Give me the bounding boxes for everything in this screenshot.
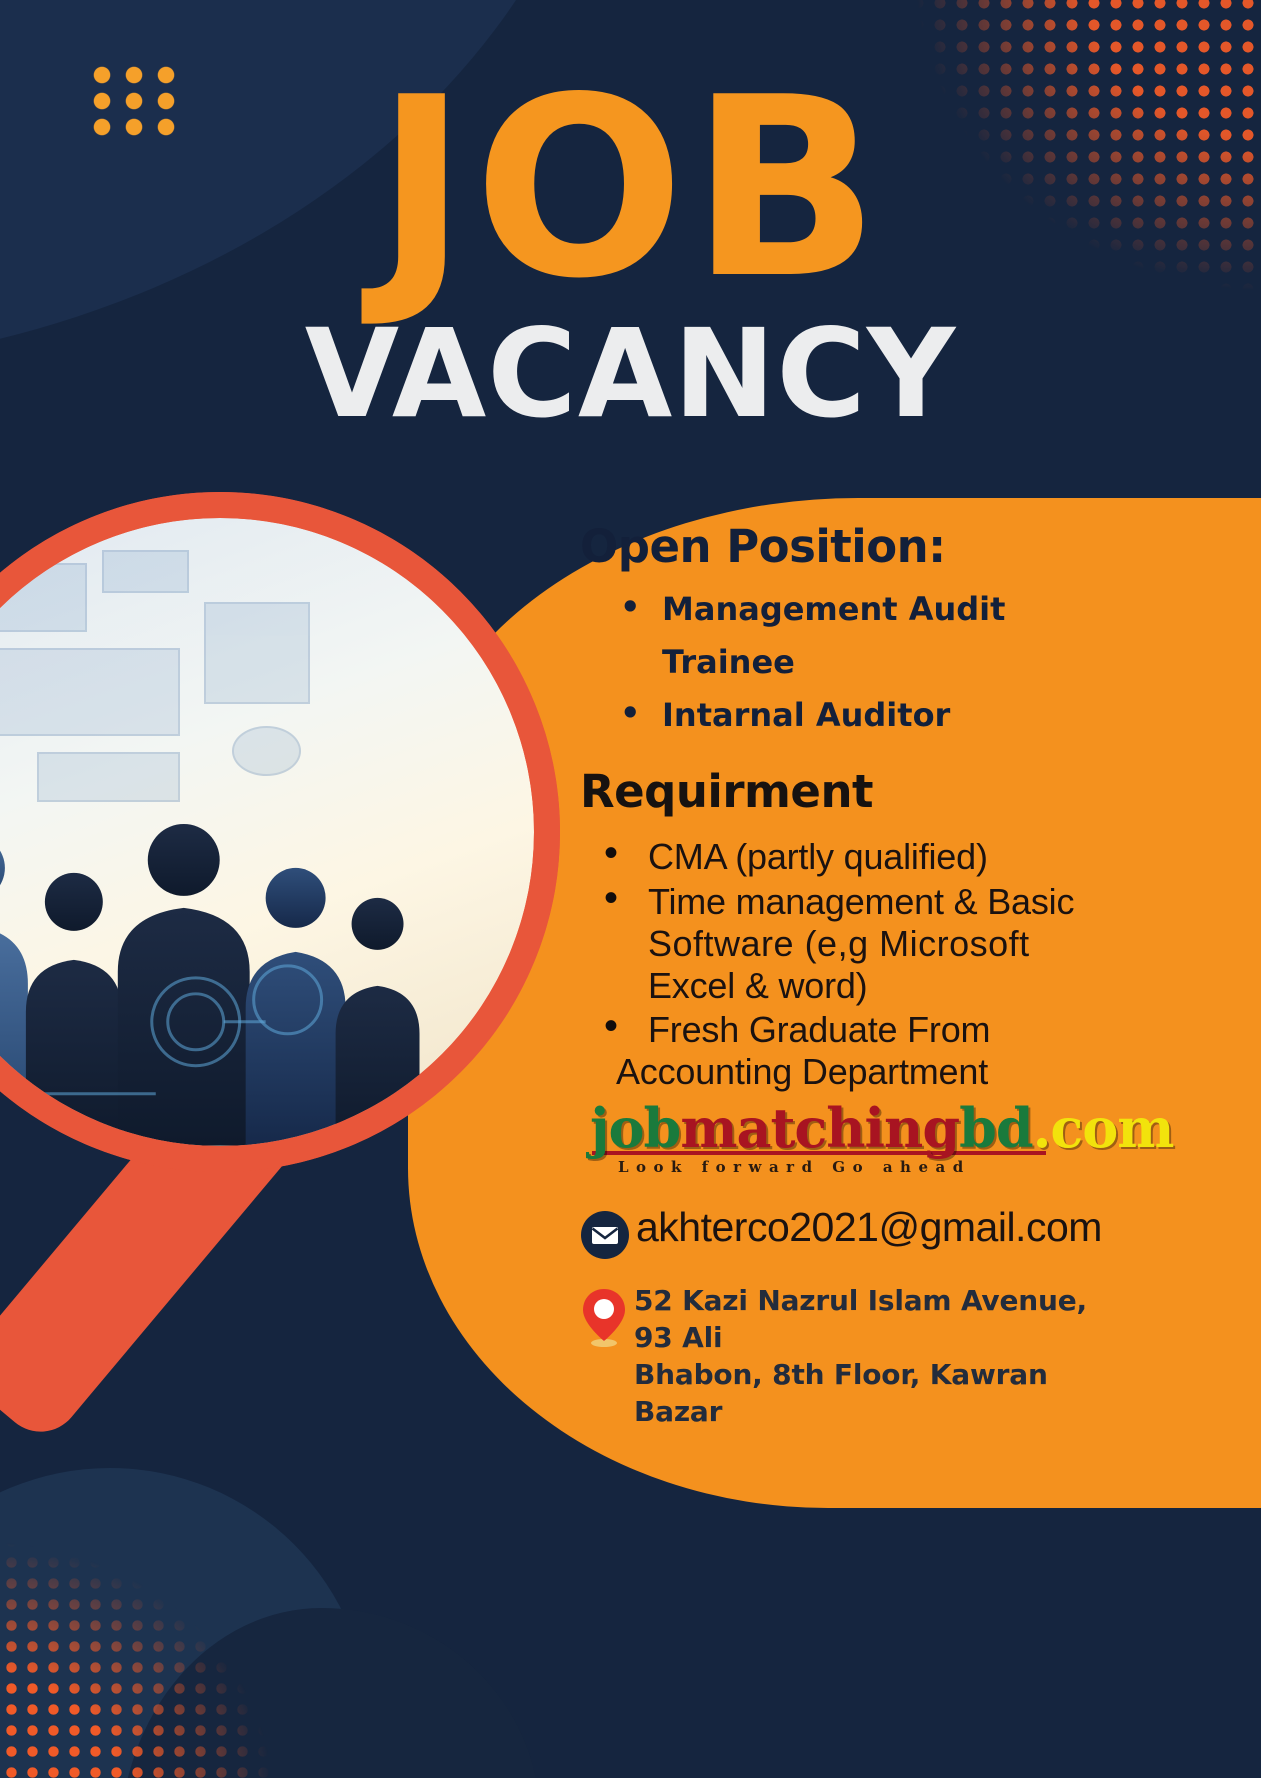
requirement-line: Excel & word) [648,965,1120,1007]
address-line-2: Bhabon, 8th Floor, Kawran Bazar [634,1358,1048,1428]
job-vacancy-poster: JOB VACANCY [0,0,1261,1778]
list-item: Management Audit Trainee [620,583,1120,689]
brand-tagline: Look forward Go ahead [590,1158,1120,1176]
requirement-line: Time management & Basic [648,881,1120,923]
halftone-dots-bottom-left-icon [0,1468,340,1778]
requirement-line: Software (e,g Microsoft [648,923,1120,965]
headline-job: JOB [0,88,1261,291]
brand-part-bd: bd [959,1096,1033,1160]
open-position-title: Open Position: [580,520,1120,573]
requirement-list: CMA (partly qualified) Time management &… [580,836,1120,1093]
requirement-title: Requirment [580,765,1120,818]
requirement-line: Fresh Graduate From [648,1009,1120,1051]
address-line-1: 52 Kazi Nazrul Islam Avenue, 93 Ali [634,1284,1087,1354]
open-position-list: Management Audit Trainee Intarnal Audito… [580,583,1120,741]
requirement-line: Accounting Department [616,1051,1120,1093]
brand-part-job: job [590,1096,680,1160]
brand-logo[interactable]: jobmatchingbd.com Look forward Go ahead [590,1101,1120,1176]
headline-vacancy: VACANCY [0,313,1261,435]
email-address[interactable]: akhterco2021@gmail.com [636,1206,1102,1249]
page-title: JOB VACANCY [0,88,1261,435]
list-item: CMA (partly qualified) [600,836,1120,878]
list-item: Intarnal Auditor [620,689,1120,742]
map-pin-icon [580,1287,628,1354]
email-row[interactable]: akhterco2021@gmail.com [580,1206,1120,1265]
panel-content: Open Position: Management Audit Trainee … [580,520,1120,1449]
list-item: Time management & Basic Software (e,g Mi… [600,881,1120,1007]
contact-block: akhterco2021@gmail.com 52 Kazi Nazrul Is… [580,1206,1120,1431]
brand-wordmark: jobmatchingbd.com [590,1101,1120,1155]
list-item: Fresh Graduate From Accounting Departmen… [600,1009,1120,1093]
address-row: 52 Kazi Nazrul Islam Avenue, 93 Ali Bhab… [580,1283,1120,1431]
brand-part-dotcom: .com [1033,1096,1174,1160]
requirement-line: CMA (partly qualified) [648,836,1120,878]
office-address: 52 Kazi Nazrul Islam Avenue, 93 Ali Bhab… [634,1283,1120,1431]
brand-part-matching: matching [680,1096,959,1160]
envelope-icon [580,1210,630,1265]
